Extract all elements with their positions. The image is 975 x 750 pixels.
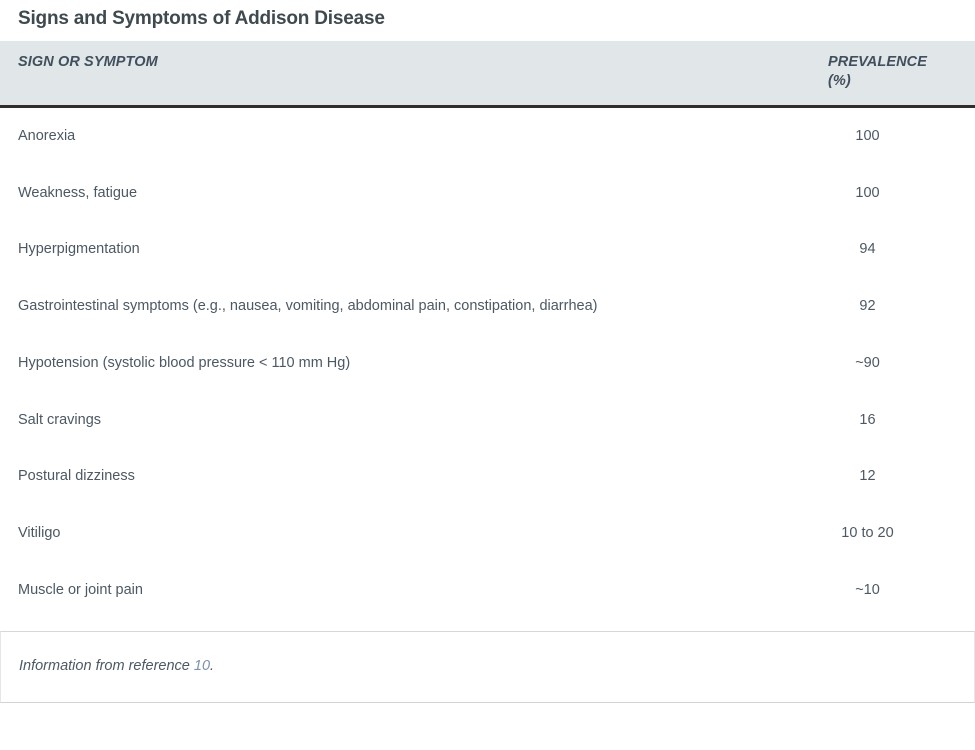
column-header-prevalence-line1: PREVALENCE <box>828 54 927 70</box>
cell-symptom: Muscle or joint pain <box>0 562 760 619</box>
cell-prevalence: ~90 <box>760 335 975 392</box>
table-header-row: SIGN OR SYMPTOM PREVALENCE (%) <box>0 41 975 107</box>
cell-symptom: Anorexia <box>0 106 760 164</box>
footer-note-prefix: Information from reference <box>19 658 194 674</box>
table-row: Gastrointestinal symptoms (e.g., nausea,… <box>0 278 975 335</box>
table-row: Muscle or joint pain ~10 <box>0 562 975 619</box>
column-header-prevalence-line2: (%) <box>828 73 851 89</box>
table-figure: Signs and Symptoms of Addison Disease SI… <box>0 0 975 703</box>
footer-note-suffix: . <box>210 658 214 674</box>
cell-symptom: Vitiligo <box>0 505 760 562</box>
table-row: Weakness, fatigue 100 <box>0 165 975 222</box>
cell-prevalence: ~10 <box>760 562 975 619</box>
cell-prevalence: 16 <box>760 392 975 449</box>
cell-symptom: Hypotension (systolic blood pressure < 1… <box>0 335 760 392</box>
column-header-prevalence-inner: PREVALENCE (%) <box>828 53 927 92</box>
cell-prevalence: 92 <box>760 278 975 335</box>
table-row: Hypotension (systolic blood pressure < 1… <box>0 335 975 392</box>
cell-prevalence: 94 <box>760 221 975 278</box>
signs-symptoms-table: SIGN OR SYMPTOM PREVALENCE (%) Anorexia … <box>0 41 975 619</box>
cell-symptom: Weakness, fatigue <box>0 165 760 222</box>
table-row: Postural dizziness 12 <box>0 448 975 505</box>
table-body: Anorexia 100 Weakness, fatigue 100 Hyper… <box>0 106 975 618</box>
page-title: Signs and Symptoms of Addison Disease <box>0 0 975 41</box>
table-row: Vitiligo 10 to 20 <box>0 505 975 562</box>
table-header: SIGN OR SYMPTOM PREVALENCE (%) <box>0 41 975 107</box>
cell-symptom: Postural dizziness <box>0 448 760 505</box>
column-header-prevalence: PREVALENCE (%) <box>760 41 975 107</box>
table-row: Salt cravings 16 <box>0 392 975 449</box>
cell-prevalence: 100 <box>760 106 975 164</box>
cell-prevalence: 100 <box>760 165 975 222</box>
footer-note: Information from reference 10. <box>19 656 974 676</box>
cell-symptom: Hyperpigmentation <box>0 221 760 278</box>
table-footer: Information from reference 10. <box>0 631 975 703</box>
cell-symptom: Salt cravings <box>0 392 760 449</box>
cell-prevalence: 12 <box>760 448 975 505</box>
column-header-sign-or-symptom: SIGN OR SYMPTOM <box>0 41 760 107</box>
reference-link[interactable]: 10 <box>194 658 210 674</box>
table-row: Hyperpigmentation 94 <box>0 221 975 278</box>
table-row: Anorexia 100 <box>0 106 975 164</box>
cell-symptom: Gastrointestinal symptoms (e.g., nausea,… <box>0 278 760 335</box>
cell-prevalence: 10 to 20 <box>760 505 975 562</box>
